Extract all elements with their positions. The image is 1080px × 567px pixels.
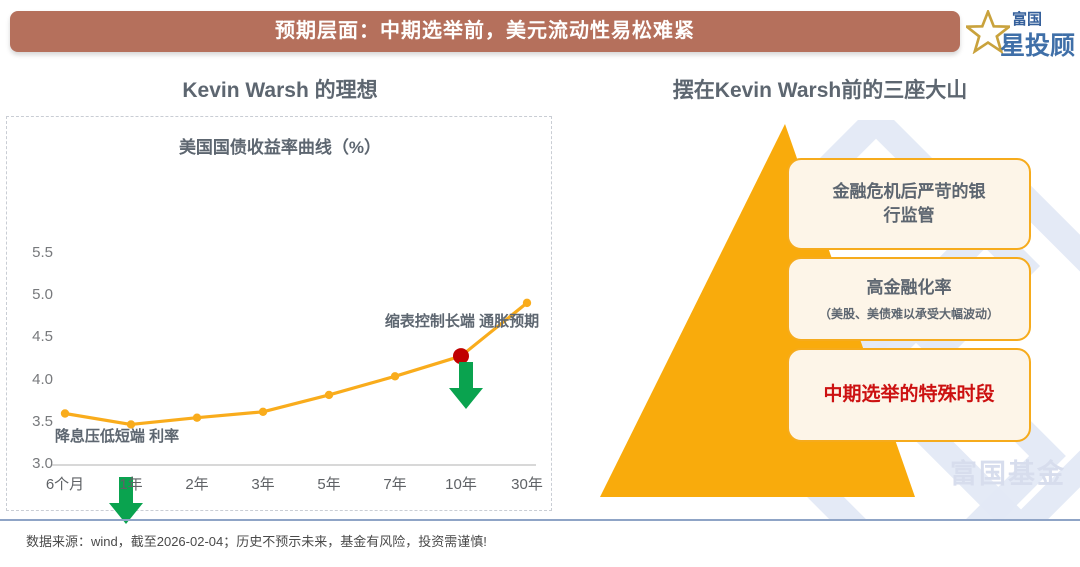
y-axis-tick-label: 4.0 <box>13 371 53 388</box>
x-axis-tick-label: 3年 <box>233 473 293 494</box>
mountain-box-3[interactable]: 中期选举的特殊时段 <box>787 348 1031 442</box>
brand-logo: 富国 星投顾 <box>966 4 1076 58</box>
annotation-qt: 缩表控制长端 通胀预期 <box>382 312 542 332</box>
arrow-down-icon <box>447 362 485 410</box>
y-axis-tick-label: 3.0 <box>13 455 53 472</box>
data-point <box>325 391 333 399</box>
right-section-heading: 摆在Kevin Warsh前的三座大山 <box>560 74 1080 104</box>
x-axis-tick-label: 10年 <box>431 473 491 494</box>
chart-panel: 美国国债收益率曲线（%） 降息压低短端 利率 缩表控制长端 通胀预期 3.03.… <box>6 116 552 511</box>
mountain-box-2-subtitle: （美股、美债难以承受大幅波动） <box>819 305 999 322</box>
y-axis-tick-label: 5.5 <box>13 244 53 261</box>
x-axis-tick-label: 5年 <box>299 473 359 494</box>
header-band: 预期层面：中期选举前，美元流动性易松难紧 <box>10 11 960 52</box>
mountain-box-2[interactable]: 高金融化率 （美股、美债难以承受大幅波动） <box>787 257 1031 341</box>
x-axis-tick-label: 30年 <box>497 473 557 494</box>
x-axis-tick-label: 2年 <box>167 473 227 494</box>
footer-note: 数据来源：wind，截至2026-02-04；历史不预示未来，基金有风险，投资需… <box>26 531 487 550</box>
data-point <box>259 408 267 416</box>
mountain-box-2-title: 高金融化率 <box>867 276 952 300</box>
data-point <box>391 372 399 380</box>
brand-line-2: 星投顾 <box>1000 26 1075 62</box>
x-axis-tick-label: 7年 <box>365 473 425 494</box>
data-point <box>61 409 69 417</box>
left-section-heading: Kevin Warsh 的理想 <box>0 74 560 104</box>
mountain-box-1-title: 金融危机后严苛的银 行监管 <box>833 180 986 228</box>
brand-watermark: 富国基金 <box>950 452 1066 491</box>
y-axis-tick-label: 3.5 <box>13 413 53 430</box>
annotation-rate-cut: 降息压低短端 利率 <box>42 427 192 447</box>
page-title: 预期层面：中期选举前，美元流动性易松难紧 <box>10 11 960 52</box>
slide-root: 预期层面：中期选举前，美元流动性易松难紧 富国 星投顾 Kevin Warsh … <box>0 0 1080 567</box>
x-axis-tick-label: 6个月 <box>35 473 95 494</box>
data-point <box>193 414 201 422</box>
mountain-box-3-title: 中期选举的特殊时段 <box>823 383 994 407</box>
mountain-box-1[interactable]: 金融危机后严苛的银 行监管 <box>787 158 1031 250</box>
y-axis-tick-label: 4.5 <box>13 328 53 345</box>
y-axis-tick-label: 5.0 <box>13 286 53 303</box>
data-point <box>523 299 531 307</box>
x-axis-tick-label: 1年 <box>101 473 161 494</box>
x-axis-line <box>51 464 536 466</box>
footer-divider <box>0 519 1080 521</box>
